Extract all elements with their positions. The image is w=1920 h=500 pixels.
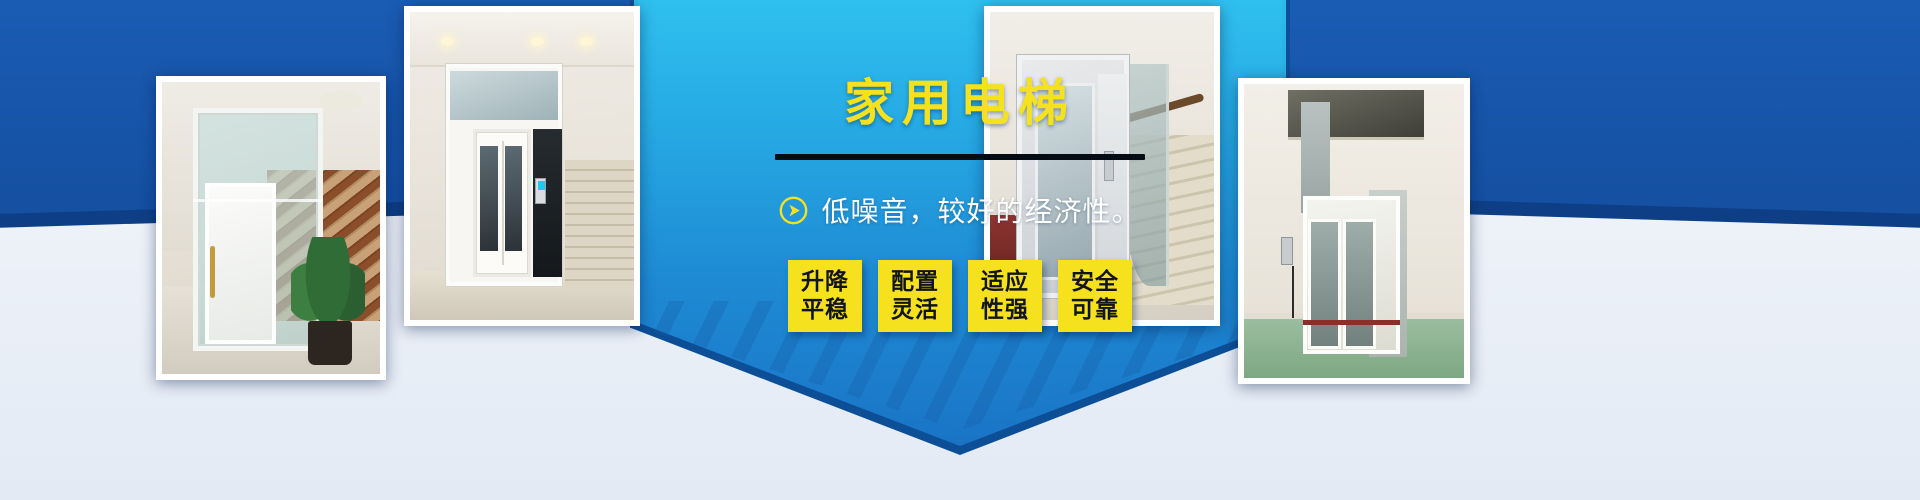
feature-tag-2[interactable]: 配置 灵活 [878,260,952,332]
headline-divider [775,154,1145,160]
banner-subline-text: 低噪音，较好的经济性。 [821,190,1140,230]
feature-tag-2-line2: 灵活 [891,296,939,324]
banner-subline: 低噪音，较好的经济性。 [779,190,1140,230]
feature-tag-1[interactable]: 升降 平稳 [788,260,862,332]
feature-tag-3-line1: 适应 [981,268,1029,296]
feature-tag-4-line1: 安全 [1071,268,1119,296]
photo-card-4 [1238,78,1470,384]
feature-tag-3-line2: 性强 [981,296,1029,324]
promo-text-column: 家用电梯 低噪音，较好的经济性。 升降 平稳 配置 灵活 适应 性强 [660,0,1260,430]
feature-tag-2-line1: 配置 [891,268,939,296]
banner-headline: 家用电梯 [844,78,1076,128]
feature-tag-1-line1: 升降 [801,268,849,296]
circle-play-arrow-icon [779,196,808,225]
photo-card-1 [156,76,386,380]
photo-glass-elevator-stairs-plant [162,82,380,374]
feature-tag-list: 升降 平稳 配置 灵活 适应 性强 安全 可靠 [788,260,1132,332]
feature-tag-4-line2: 可靠 [1071,296,1119,324]
home-elevator-promo-banner: 家用电梯 低噪音，较好的经济性。 升降 平稳 配置 灵活 适应 性强 [0,0,1920,500]
photo-card-2 [404,6,640,326]
photo-white-elevator-sliding-doors [410,12,634,320]
photo-installed-elevator-wrapped [1244,84,1464,378]
feature-tag-1-line2: 平稳 [801,296,849,324]
feature-tag-3[interactable]: 适应 性强 [968,260,1042,332]
feature-tag-4[interactable]: 安全 可靠 [1058,260,1132,332]
